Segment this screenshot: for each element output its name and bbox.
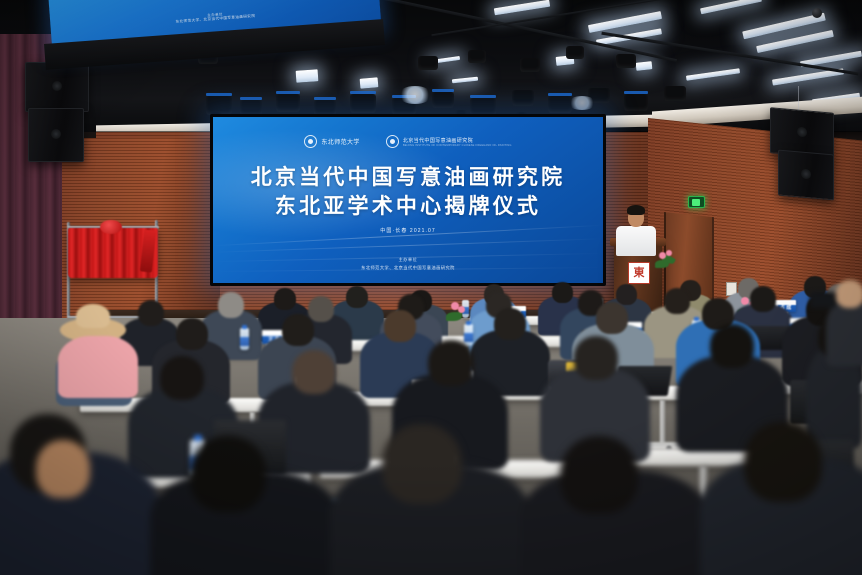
screen-date-line: 中国·长春 2021.07 [213, 227, 603, 234]
screen-title-line2: 东北亚学术中心揭牌仪式 [213, 194, 603, 219]
ceiling-camera-icon [812, 8, 822, 18]
led-screen: 东北师范大学 北京当代中国写意油画研究院 BEIJING INSTITUTE O… [213, 117, 603, 283]
podium-emblem: 東 [628, 262, 650, 284]
desk-leg [660, 400, 665, 444]
ceiling-panel-light [296, 69, 319, 83]
university-crest-icon: 东北师范大学 [304, 135, 359, 148]
line-array-speaker-left [28, 108, 84, 162]
ceiling-panel-light [360, 77, 379, 89]
light-glow [398, 86, 432, 104]
ceiling-panel-light [636, 61, 653, 71]
plaque-ribbon-bow [100, 220, 122, 234]
screen-host-label: 主办单位 [213, 257, 603, 263]
light-glow [568, 96, 596, 110]
exit-sign [688, 196, 705, 208]
screen-logo-row: 东北师范大学 北京当代中国写意油画研究院 BEIJING INSTITUTE O… [213, 135, 603, 148]
conference-hall-photo: 主办单位 东北师范大学、北京当代中国写意油画研究院 东北师范大学 北京当 [0, 0, 862, 575]
water-bottle [464, 324, 473, 346]
water-bottle [240, 328, 249, 350]
camera-icon [810, 292, 836, 308]
screen-title-line1: 北京当代中国写意油画研究院 [213, 165, 603, 190]
institute-crest-icon: 北京当代中国写意油画研究院 BEIJING INSTITUTE OF CONTE… [386, 135, 512, 148]
line-array-speaker-right [778, 150, 834, 201]
line-array-speaker-left [25, 62, 89, 112]
screen-host-block: 主办单位 东北师范大学、北京当代中国写意油画研究院 [213, 257, 603, 271]
screen-host-names: 东北师范大学、北京当代中国写意油画研究院 [213, 265, 603, 271]
